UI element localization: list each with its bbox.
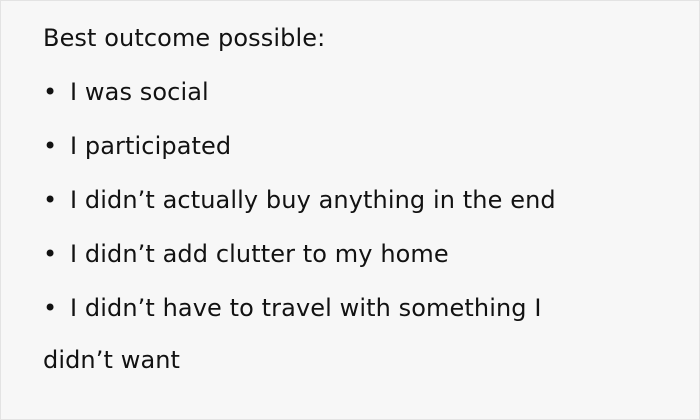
bullet-point-icon: • <box>43 77 70 107</box>
list-item-label: I didn’t actually buy anything in the en… <box>70 185 556 215</box>
list-item: • I didn’t add clutter to my home <box>43 239 675 293</box>
bullet-point-icon: • <box>43 185 70 215</box>
list-item: • I didn’t have to travel with something… <box>43 293 675 347</box>
page-title: Best outcome possible: <box>43 23 675 53</box>
bullet-point-icon: • <box>43 131 70 161</box>
list-item-label: I participated <box>70 131 231 161</box>
bullet-point-icon: • <box>43 293 70 323</box>
list-item-label: I was social <box>70 77 209 107</box>
bullet-list: • I was social • I participated • I didn… <box>43 77 675 347</box>
list-item: • I participated <box>43 131 675 185</box>
list-item-label: I didn’t have to travel with something I <box>70 293 542 323</box>
bullet-point-icon: • <box>43 239 70 269</box>
list-item: • I didn’t actually buy anything in the … <box>43 185 675 239</box>
text-card: Best outcome possible: • I was social • … <box>0 0 700 420</box>
list-item-wrapped-continuation: didn’t want <box>43 345 675 375</box>
list-item: • I was social <box>43 77 675 131</box>
list-item-label: I didn’t add clutter to my home <box>70 239 449 269</box>
